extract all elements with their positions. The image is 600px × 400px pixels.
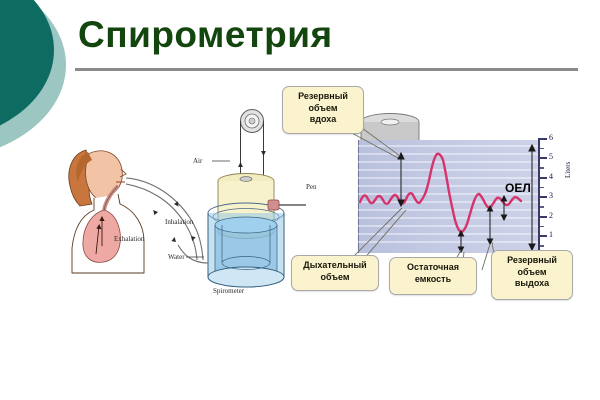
y-tick-3 bbox=[540, 196, 547, 198]
breathing-person-illustration: Inhalation Exhalation bbox=[58, 138, 208, 273]
y-ticklabel-1: 1 bbox=[549, 231, 553, 239]
callout-rc-line1: Остаточная bbox=[395, 262, 471, 274]
y-tick-5 bbox=[540, 157, 547, 159]
bell-cap bbox=[240, 177, 252, 182]
total-lung-capacity-label: ОЕЛ bbox=[505, 181, 531, 195]
y-tick-minor-55 bbox=[540, 148, 544, 150]
y-ticklabel-3: 3 bbox=[549, 192, 553, 200]
tank-base bbox=[208, 267, 284, 287]
drum-hub bbox=[381, 119, 399, 125]
face-shape bbox=[85, 151, 122, 198]
title-divider bbox=[75, 68, 578, 71]
y-ticklabel-4: 4 bbox=[549, 173, 553, 181]
y-ticklabel-5: 5 bbox=[549, 153, 553, 161]
spirogram-trace bbox=[360, 154, 521, 232]
spirometer-label: Spirometer bbox=[213, 287, 244, 295]
y-tick-4 bbox=[540, 177, 547, 179]
cord-arrow-down bbox=[238, 162, 243, 167]
callout-expiratory-reserve-volume: Резервный объем выдоха bbox=[491, 250, 573, 300]
water-label: Water bbox=[168, 253, 185, 261]
chart-y-axis: 6 5 4 3 2 1 0 Liters bbox=[538, 134, 590, 260]
y-tick-minor-45 bbox=[540, 167, 544, 169]
y-tick-minor-15 bbox=[540, 226, 544, 228]
y-axis-title: Liters bbox=[564, 162, 572, 178]
callout-rc-line2: емкость bbox=[395, 274, 471, 286]
callout-irv-line1: Резервный bbox=[288, 91, 358, 103]
y-ticklabel-2: 2 bbox=[549, 212, 553, 220]
tv-span-arrow bbox=[501, 196, 506, 220]
callout-tv-line1: Дыхательный bbox=[297, 260, 373, 272]
y-tick-6 bbox=[540, 138, 547, 140]
y-tick-minor-35 bbox=[540, 187, 544, 189]
erv-span-arrow bbox=[487, 206, 492, 244]
cord-arrow-up bbox=[261, 151, 266, 156]
pulley-hub bbox=[249, 118, 255, 124]
exhalation-label: Exhalation bbox=[114, 235, 144, 243]
callout-inspiratory-reserve-volume: Резервный объем вдоха bbox=[282, 86, 364, 134]
y-tick-minor-05 bbox=[540, 245, 544, 247]
y-tick-1 bbox=[540, 235, 547, 237]
water-surface bbox=[215, 217, 277, 233]
exhalation-arrowhead-2 bbox=[171, 237, 176, 242]
callout-tv-line2: объем bbox=[297, 272, 373, 284]
callout-erv-line2: объем bbox=[497, 267, 567, 279]
slide-canvas: Спирометрия bbox=[0, 0, 600, 400]
callout-erv-line3: выдоха bbox=[497, 278, 567, 290]
y-ticklabel-6: 6 bbox=[549, 134, 553, 142]
air-label: Air bbox=[193, 157, 202, 165]
pen-label: Pen bbox=[306, 183, 317, 191]
kymograph-drum bbox=[360, 113, 437, 143]
callout-residual-capacity: Остаточная емкость bbox=[389, 257, 477, 295]
page-title: Спирометрия bbox=[78, 14, 333, 56]
pen-tip bbox=[268, 200, 279, 210]
callout-tidal-volume: Дыхательный объем bbox=[291, 255, 379, 291]
y-tick-minor-25 bbox=[540, 206, 544, 208]
exhalation-arrowhead bbox=[153, 210, 158, 215]
spirogram-chart bbox=[358, 140, 538, 253]
callout-irv-line2: объем bbox=[288, 103, 358, 115]
callout-erv-line1: Резервный bbox=[497, 255, 567, 267]
y-tick-2 bbox=[540, 216, 547, 218]
callout-irv-line3: вдоха bbox=[288, 114, 358, 126]
